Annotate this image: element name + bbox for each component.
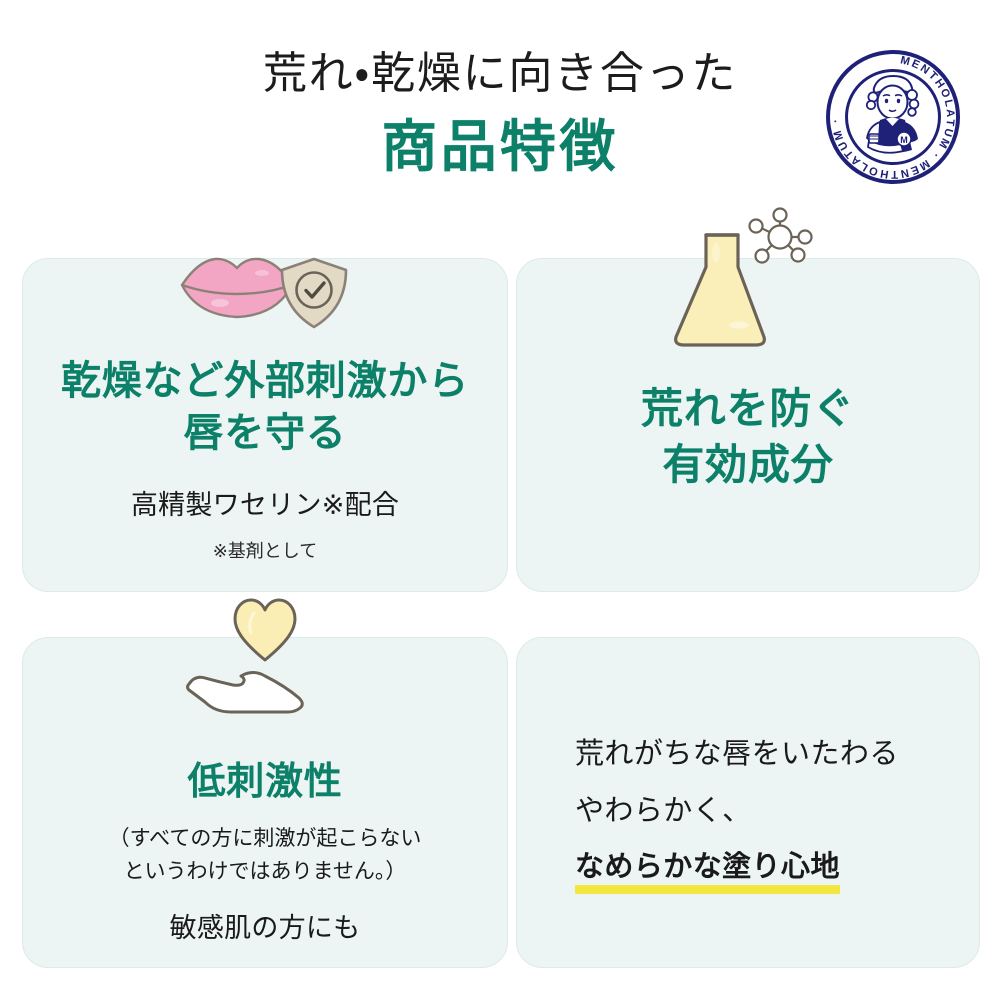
paragraph-line-2: やわらかく、: [575, 783, 945, 840]
feature-card-ingredient: 荒れを防ぐ 有効成分: [516, 258, 980, 592]
yellow-highlight-bar: [575, 885, 840, 894]
card-subtext: 敏感肌の方にも: [23, 910, 507, 948]
card-heading-line-2: 有効成分: [517, 437, 979, 493]
card-note: （すべての方に刺激が起こらない というわけではありません。）: [23, 823, 507, 888]
paragraph-line-3: なめらかな塗り心地: [575, 851, 840, 883]
card-heading-text: 低刺激性: [23, 758, 507, 807]
card-heading: 荒れを防ぐ 有効成分: [517, 381, 979, 494]
paragraph-highlighted-text: なめらかな塗り心地: [575, 839, 840, 894]
card-note-line-2: というわけではありません。）: [23, 856, 507, 889]
card-footnote: ※基剤として: [23, 539, 507, 564]
card-note-line-1: （すべての方に刺激が起こらない: [23, 823, 507, 856]
card-heading: 乾燥など外部刺激から 唇を守る: [23, 355, 507, 459]
page-header: 荒れ・乾燥に向き合った 商品特徴 MENTHOLATUM · MENTHOLAT…: [0, 0, 1000, 230]
card-heading: 低刺激性: [23, 758, 507, 807]
card-heading-line-1: 乾燥など外部刺激から: [23, 355, 507, 407]
card-subtext: 高精製ワセリン※配合: [23, 487, 507, 525]
heart-hand-icon: [23, 600, 507, 726]
feature-card-protect: 乾燥など外部刺激から 唇を守る 高精製ワセリン※配合 ※基剤として: [22, 258, 508, 592]
lips-shield-icon: [23, 235, 507, 345]
card-paragraph: 荒れがちな唇をいたわる やわらかく、 なめらかな塗り心地: [575, 726, 945, 894]
feature-card-grid: 乾燥など外部刺激から 唇を守る 高精製ワセリン※配合 ※基剤として: [22, 258, 980, 968]
svg-text:M: M: [900, 135, 908, 145]
card-heading-line-2: 唇を守る: [23, 407, 507, 459]
paragraph-line-1: 荒れがちな唇をいたわる: [575, 726, 945, 783]
mentholatum-logo: MENTHOLATUM · MENTHOLATUM ·: [824, 48, 962, 186]
feature-card-mild: 低刺激性 （すべての方に刺激が起こらない というわけではありません。） 敏感肌の…: [22, 637, 508, 968]
paragraph-line-3-wrap: なめらかな塗り心地: [575, 839, 945, 894]
card-heading-line-1: 荒れを防ぐ: [517, 381, 979, 437]
feature-card-texture: 荒れがちな唇をいたわる やわらかく、 なめらかな塗り心地: [516, 637, 980, 968]
flask-molecule-icon: [517, 209, 979, 349]
